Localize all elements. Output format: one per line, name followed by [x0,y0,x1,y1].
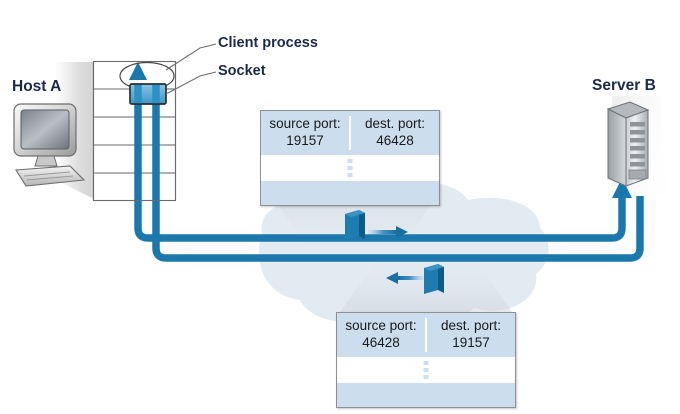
packet-header-row: source port: 46428 dest. port: 19157 [337,313,515,357]
packet-header-row: source port: 19157 dest. port: 46428 [261,111,439,155]
source-port-value: 46428 [339,335,423,352]
host-label: Host A [12,79,61,95]
dest-port-key: dest. port: [353,116,437,133]
packet-box-server-to-client: source port: 46428 dest. port: 19157 [336,312,516,408]
packet-direction-left [386,264,444,294]
source-port-key: source port: [263,116,347,133]
source-port-key: source port: [339,318,423,335]
dest-port-value: 19157 [429,335,513,352]
callout-label-client-process: Client process [218,36,318,51]
server-label: Server B [592,78,656,94]
packet-footer-row [261,181,439,205]
dest-port-key: dest. port: [429,318,513,335]
source-port-cell: source port: 46428 [337,318,427,352]
vertical-ellipsis-icon [424,361,429,379]
dest-port-value: 46428 [353,133,437,150]
callout-label-socket: Socket [218,64,266,79]
dest-port-cell: dest. port: 19157 [427,318,515,352]
source-port-value: 19157 [263,133,347,150]
vertical-ellipsis-icon [348,159,353,177]
packet-payload-gap [337,357,515,383]
packet-box-client-to-server: source port: 19157 dest. port: 46428 [260,110,440,206]
packet-footer-row [337,383,515,407]
packet-direction-right [345,210,408,240]
source-port-cell: source port: 19157 [261,116,351,150]
packet-payload-gap [261,155,439,181]
diagram-canvas: Host A Server B Client process Socket so… [0,0,680,414]
dest-port-cell: dest. port: 46428 [351,116,439,150]
